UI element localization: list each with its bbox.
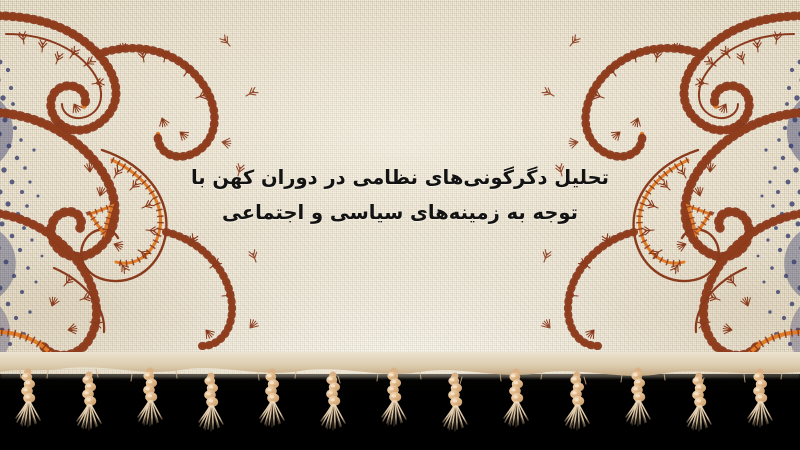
title-line-2: توجه به زمینه‌های سیاسی و اجتماعی [0, 195, 800, 230]
title-slide: تحلیل دگرگونی‌های نظامی در دوران کهن با … [0, 0, 800, 450]
tassel-fringe [0, 352, 800, 442]
slide-title: تحلیل دگرگونی‌های نظامی در دوران کهن با … [0, 160, 800, 230]
title-line-1: تحلیل دگرگونی‌های نظامی در دوران کهن با [0, 160, 800, 195]
